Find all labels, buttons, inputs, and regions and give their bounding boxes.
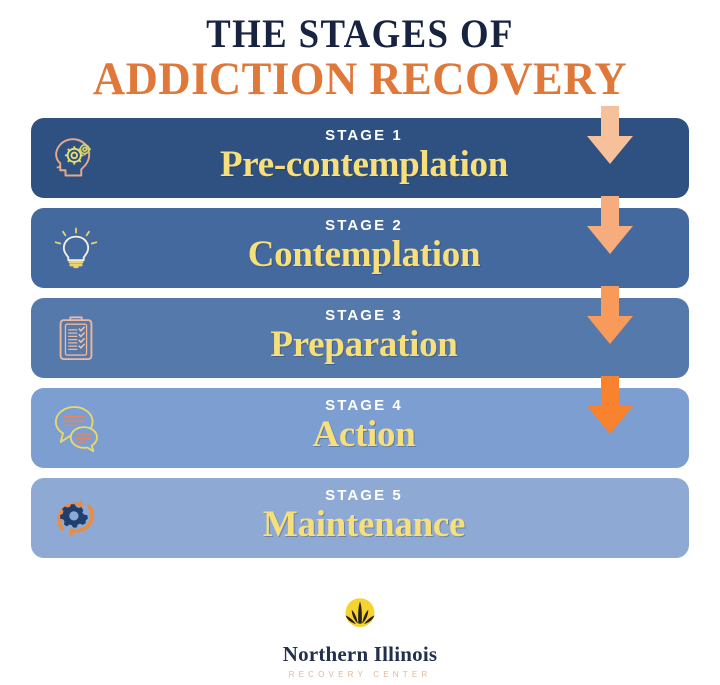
stage-kicker-3: STAGE 3 [113, 308, 615, 325]
stage-row-5[interactable]: STAGE 5 Maintenance [31, 478, 689, 558]
stages-list: STAGE 1 Pre-contemplation STAGE 2 Cont [0, 118, 720, 558]
title-line-1: THE STAGES OF [29, 14, 691, 55]
stage-name-4: Action [113, 415, 615, 455]
clipboard-checklist-icon [39, 301, 113, 375]
stage-kicker-4: STAGE 4 [113, 398, 615, 415]
title-line-2: ADDICTION RECOVERY [18, 55, 702, 104]
stage-kicker-2: STAGE 2 [113, 218, 615, 235]
speech-bubbles-icon [39, 391, 113, 465]
stage-name-3: Preparation [113, 325, 615, 365]
page-title: THE STAGES OF ADDICTION RECOVERY [0, 0, 720, 104]
stage-kicker-1: STAGE 1 [113, 128, 615, 145]
gear-refresh-icon [39, 481, 113, 555]
stage-name-1: Pre-contemplation [113, 145, 615, 185]
stage-name-2: Contemplation [113, 235, 615, 275]
arrow-stage2-to-stage3 [587, 196, 633, 258]
head-gears-icon [39, 121, 113, 195]
footer-logo: Northern Illinois RECOVERY CENTER [0, 592, 720, 679]
stage-kicker-5: STAGE 5 [113, 488, 615, 505]
logo-leaf-icon [0, 592, 720, 641]
stage-text-5: STAGE 5 Maintenance [113, 488, 689, 544]
logo-name: Northern Illinois [0, 642, 720, 667]
lightbulb-icon [39, 211, 113, 285]
arrow-stage4-to-stage5 [587, 376, 633, 438]
stage-name-5: Maintenance [113, 505, 615, 545]
arrow-stage3-to-stage4 [587, 286, 633, 348]
logo-subtitle: RECOVERY CENTER [0, 670, 720, 679]
arrow-stage1-to-stage2 [587, 106, 633, 168]
